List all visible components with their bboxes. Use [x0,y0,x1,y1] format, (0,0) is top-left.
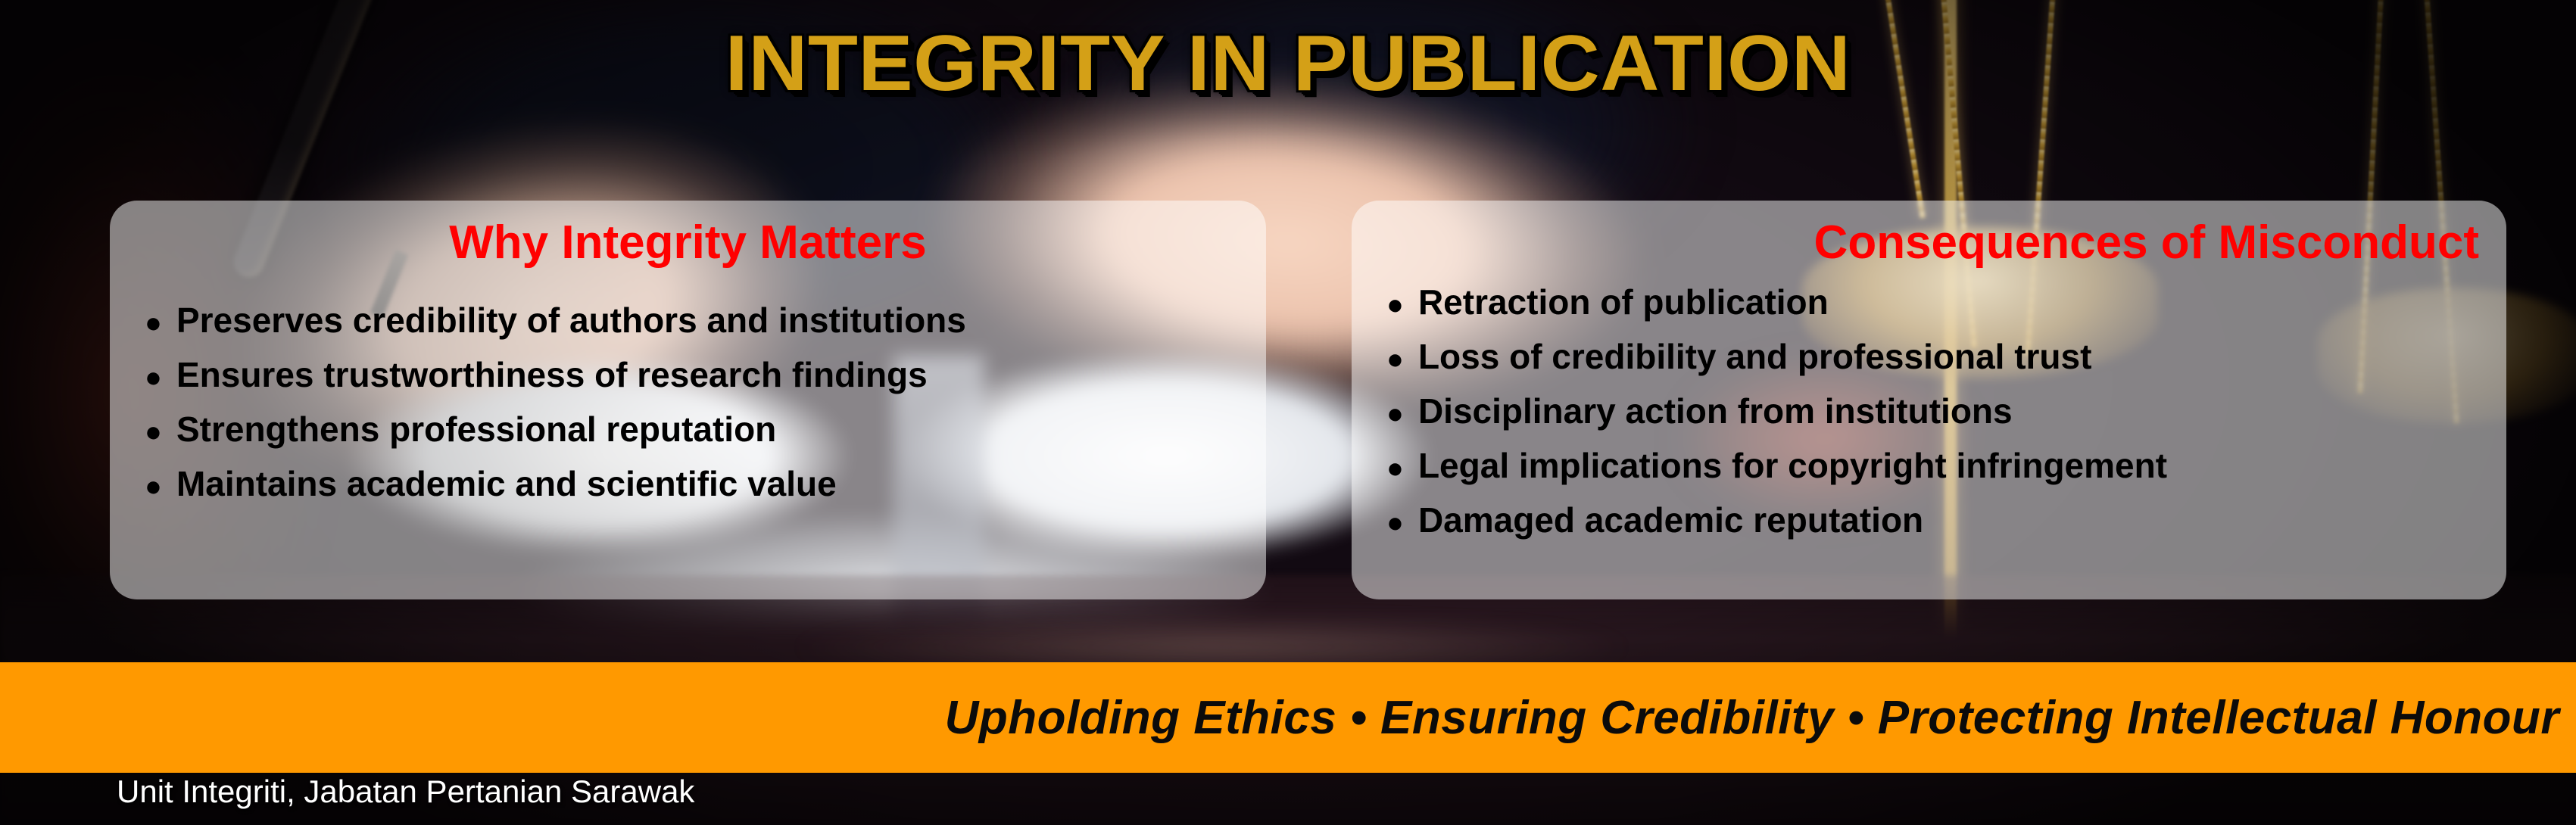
list-item-label: Ensures trustworthiness of research find… [176,347,928,402]
footer-organisation: Unit Integriti, Jabatan Pertanian Sarawa… [117,774,694,810]
list-item: ● Damaged academic reputation [1386,493,2491,547]
bullet-dot-icon: ● [1386,278,1404,332]
bullet-dot-icon: ● [1386,441,1404,496]
card-heading-consequences-of-misconduct: Consequences of Misconduct [1814,216,2479,269]
list-item-label: Damaged academic reputation [1418,493,1923,547]
list-item-label: Loss of credibility and professional tru… [1418,329,2091,384]
list-item: ● Legal implications for copyright infri… [1386,438,2491,493]
list-item: ● Maintains academic and scientific valu… [145,456,1251,511]
list-item-label: Strengthens professional reputation [176,402,776,456]
bullet-dot-icon: ● [1386,496,1404,550]
list-item: ● Preserves credibility of authors and i… [145,293,1251,347]
list-item-label: Maintains academic and scientific value [176,456,837,511]
card-consequences-of-misconduct: Consequences of Misconduct ● Retraction … [1352,201,2506,599]
list-item-label: Legal implications for copyright infring… [1418,438,2167,493]
bullet-dot-icon: ● [145,459,162,514]
list-item-label: Disciplinary action from institutions [1418,384,2013,438]
list-item: ● Strengthens professional reputation [145,402,1251,456]
list-item-label: Retraction of publication [1418,275,1829,329]
list-item: ● Ensures trustworthiness of research fi… [145,347,1251,402]
bullet-dot-icon: ● [145,350,162,405]
bullet-dot-icon: ● [1386,332,1404,387]
bullet-dot-icon: ● [145,296,162,350]
bullet-dot-icon: ● [1386,387,1404,441]
integrity-in-publication-banner: INTEGRITY IN PUBLICATION Why Integrity M… [0,0,2576,825]
bullet-list-consequences-of-misconduct: ● Retraction of publication ● Loss of cr… [1386,275,2491,547]
bullet-dot-icon: ● [145,405,162,459]
list-item-label: Preserves credibility of authors and ins… [176,293,966,347]
card-why-integrity-matters: Why Integrity Matters ● Preserves credib… [110,201,1266,599]
list-item: ● Retraction of publication [1386,275,2491,329]
list-item: ● Loss of credibility and professional t… [1386,329,2491,384]
page-title: INTEGRITY IN PUBLICATION [0,24,2576,103]
card-heading-why-integrity-matters: Why Integrity Matters [110,216,1266,269]
tagline-text: Upholding Ethics • Ensuring Credibility … [945,691,2559,745]
list-item: ● Disciplinary action from institutions [1386,384,2491,438]
bullet-list-why-integrity-matters: ● Preserves credibility of authors and i… [145,293,1251,511]
tagline-band: Upholding Ethics • Ensuring Credibility … [0,662,2576,773]
